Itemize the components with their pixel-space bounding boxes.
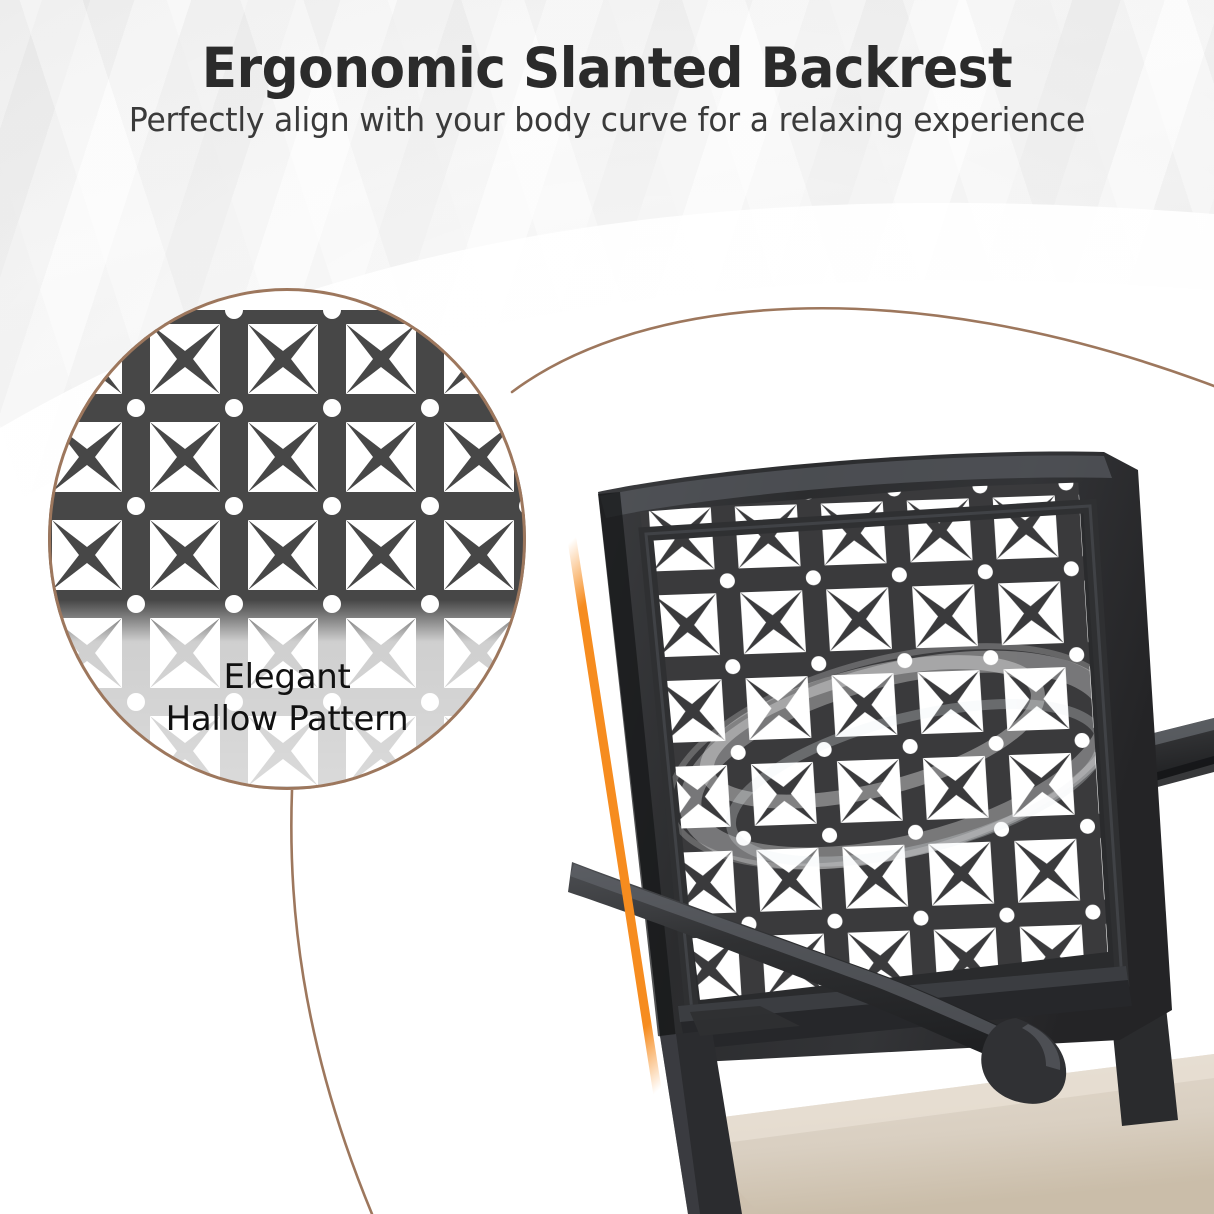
callout-content: Elegant Hallow Pattern xyxy=(48,288,526,790)
product-feature-banner: Ergonomic Slanted Backrest Perfectly ali… xyxy=(0,0,1214,1214)
callout-label-line1: Elegant xyxy=(48,656,526,698)
callout-label-line2: Hallow Pattern xyxy=(48,698,526,740)
pattern-callout-circle[interactable]: Elegant Hallow Pattern xyxy=(48,288,526,790)
callout-label: Elegant Hallow Pattern xyxy=(48,656,526,740)
